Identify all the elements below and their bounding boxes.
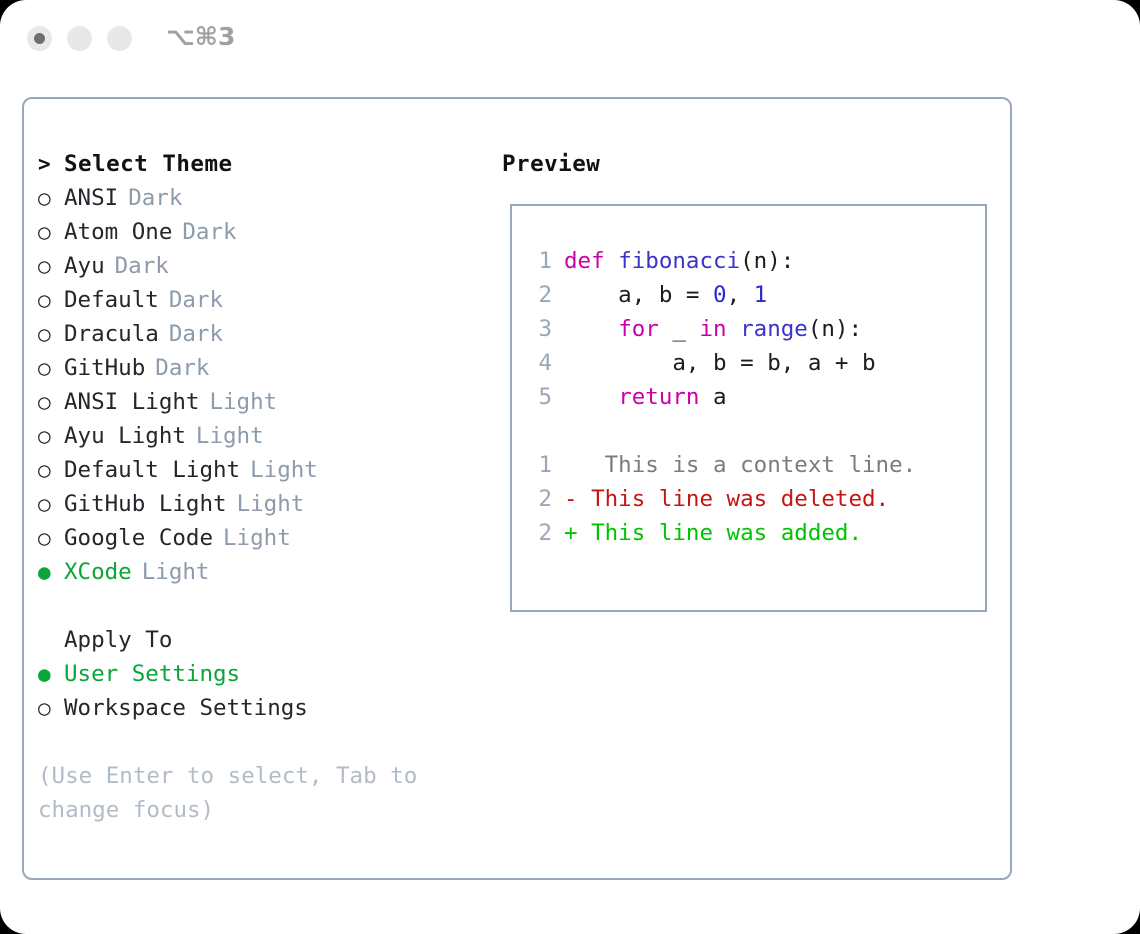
line-number: 4 [526,346,552,380]
radio-unselected-icon: ○ [38,385,64,419]
diff-line: 2+ This line was added. [526,516,916,550]
theme-name-label: Ayu [64,253,105,279]
blank-marker-icon: ○ [38,623,64,657]
code-blank-line [526,414,916,448]
radio-unselected-icon: ○ [38,317,64,351]
theme-kind-badge: Dark [169,321,223,347]
code-token: def [564,248,618,274]
theme-kind-badge: Dark [155,355,209,381]
code-line: 4 a, b = b, a + b [526,346,916,380]
app-window: ⌥⌘3 >Select Theme ○ANSIDark○Atom OneDark… [0,0,1140,934]
code-token: 1 [754,282,768,308]
pointer-icon: > [38,147,64,181]
diff-text: This line was added. [578,520,862,546]
diff-text: This line was deleted. [578,486,890,512]
radio-unselected-icon: ○ [38,691,64,725]
window-dot-third-icon[interactable] [107,26,132,51]
theme-name-label: Atom One [64,219,172,245]
code-token: 0 [713,282,727,308]
theme-kind-badge: Light [196,423,264,449]
theme-name-label: ANSI Light [64,389,199,415]
main-panel: >Select Theme ○ANSIDark○Atom OneDark○Ayu… [22,97,1012,880]
code-token: , [727,282,754,308]
code-line: 2 a, b = 0, 1 [526,278,916,312]
line-number: 2 [526,516,552,550]
theme-kind-badge: Dark [115,253,169,279]
theme-list-item[interactable]: ○Google CodeLight [38,521,488,555]
theme-list-item[interactable]: ○GitHub LightLight [38,487,488,521]
diff-line: 1 This is a context line. [526,448,916,482]
theme-name-label: Dracula [64,321,159,347]
diff-sign: + [564,520,578,546]
theme-name-label: Default Light [64,457,240,483]
code-token [564,316,618,342]
code-token: a, b = [564,282,713,308]
line-number: 5 [526,380,552,414]
theme-kind-badge: Light [209,389,277,415]
code-token: a [713,384,727,410]
line-number: 1 [526,244,552,278]
code-preview: 1def fibonacci(n):2 a, b = 0, 13 for _ i… [526,244,916,550]
apply-to-label: Apply To [64,627,172,653]
theme-picker-column: >Select Theme ○ANSIDark○Atom OneDark○Ayu… [38,147,488,827]
theme-list-item[interactable]: ○DraculaDark [38,317,488,351]
window-dot-second-icon[interactable] [67,26,92,51]
select-theme-header: >Select Theme [38,147,488,181]
radio-unselected-icon: ○ [38,419,64,453]
code-token: return [618,384,713,410]
line-number: 3 [526,312,552,346]
code-token: range [740,316,808,342]
theme-kind-badge: Light [250,457,318,483]
diff-sign [564,452,578,478]
theme-kind-badge: Dark [182,219,236,245]
code-token: (n): [808,316,862,342]
radio-unselected-icon: ○ [38,283,64,317]
theme-list-item[interactable]: ○Default LightLight [38,453,488,487]
theme-list-item[interactable]: ○ANSI LightLight [38,385,488,419]
theme-name-label: GitHub [64,355,145,381]
code-token: (n): [740,248,794,274]
code-token: a, b = b, a + b [564,350,876,376]
diff-sign: - [564,486,578,512]
code-line: 5 return a [526,380,916,414]
apply-to-item[interactable]: ●User Settings [38,657,488,691]
preview-box: 1def fibonacci(n):2 a, b = 0, 13 for _ i… [510,204,987,612]
theme-list-item[interactable]: ○DefaultDark [38,283,488,317]
code-line: 3 for _ in range(n): [526,312,916,346]
theme-list-item[interactable]: ○Atom OneDark [38,215,488,249]
theme-kind-badge: Light [223,525,291,551]
radio-unselected-icon: ○ [38,181,64,215]
theme-name-label: XCode [64,559,132,585]
theme-name-label: Google Code [64,525,213,551]
code-token: for [618,316,672,342]
line-number: 1 [526,448,552,482]
theme-list-item[interactable]: ○Ayu LightLight [38,419,488,453]
code-line: 1def fibonacci(n): [526,244,916,278]
radio-selected-icon: ● [38,657,64,691]
window-dot-active-icon[interactable] [27,26,52,51]
apply-to-item[interactable]: ○Workspace Settings [38,691,488,725]
theme-kind-badge: Dark [169,287,223,313]
apply-to-list: ●User Settings○Workspace Settings [38,657,488,725]
radio-unselected-icon: ○ [38,249,64,283]
theme-name-label: ANSI [64,185,118,211]
theme-kind-badge: Light [142,559,210,585]
theme-list-item[interactable]: ○ANSIDark [38,181,488,215]
theme-list-item[interactable]: ●XCodeLight [38,555,488,589]
keyboard-shortcut-label: ⌥⌘3 [166,22,235,51]
preview-column: Preview 1def fibonacci(n):2 a, b = 0, 13… [502,147,1002,181]
code-token: in [699,316,740,342]
line-number: 2 [526,278,552,312]
radio-unselected-icon: ○ [38,453,64,487]
line-number: 2 [526,482,552,516]
radio-unselected-icon: ○ [38,215,64,249]
code-token [564,384,618,410]
theme-kind-badge: Dark [128,185,182,211]
radio-unselected-icon: ○ [38,351,64,385]
apply-to-item-label: Workspace Settings [64,695,308,721]
apply-to-item-label: User Settings [64,661,240,687]
theme-list: ○ANSIDark○Atom OneDark○AyuDark○DefaultDa… [38,181,488,589]
title-bar: ⌥⌘3 [0,0,1140,78]
theme-name-label: Default [64,287,159,313]
diff-line: 2- This line was deleted. [526,482,916,516]
diff-text: This is a context line. [578,452,917,478]
radio-unselected-icon: ○ [38,521,64,555]
radio-unselected-icon: ○ [38,487,64,521]
spacer [38,589,488,623]
code-token: fibonacci [618,248,740,274]
radio-selected-icon: ● [38,555,64,589]
theme-name-label: GitHub Light [64,491,227,517]
keyboard-hint-text: (Use Enter to select, Tab to change focu… [38,759,458,827]
window-dot-active-inner [34,33,45,44]
code-token: _ [672,316,699,342]
apply-to-header: ○Apply To [38,623,488,657]
select-theme-label: Select Theme [64,151,233,177]
theme-list-item[interactable]: ○GitHubDark [38,351,488,385]
theme-name-label: Ayu Light [64,423,186,449]
theme-kind-badge: Light [237,491,305,517]
preview-title: Preview [502,147,1002,181]
theme-list-item[interactable]: ○AyuDark [38,249,488,283]
